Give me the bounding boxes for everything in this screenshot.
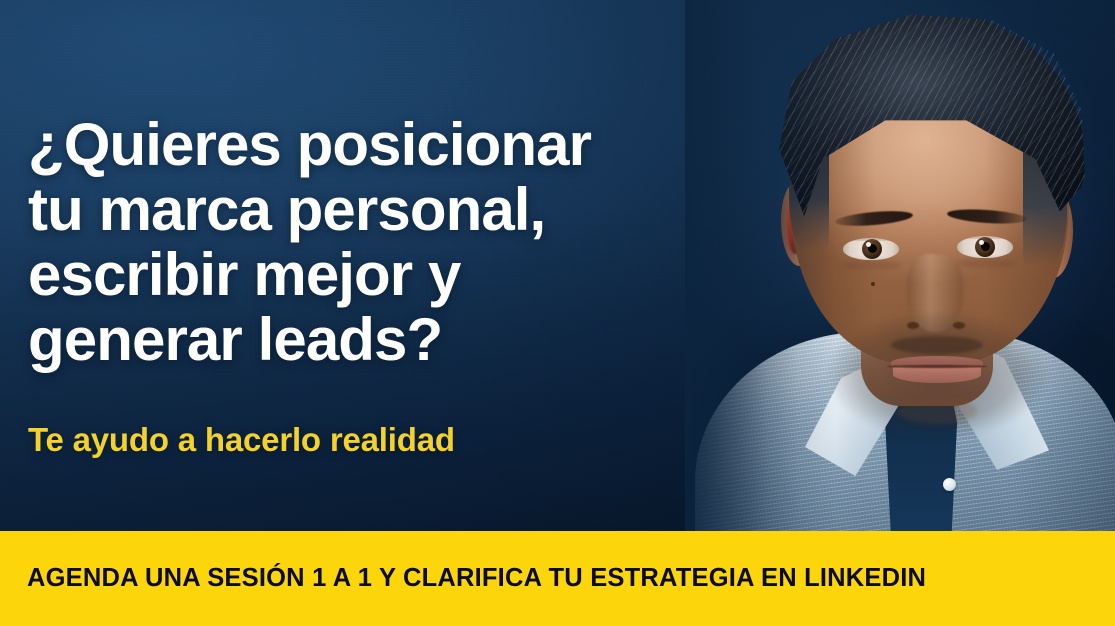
headline-line-4: generar leads? bbox=[28, 307, 788, 372]
portrait-eye-right bbox=[957, 236, 1013, 258]
eye-glint-right bbox=[979, 240, 984, 245]
cta-banner-text: AGENDA UNA SESIÓN 1 A 1 Y CLARIFICA TU E… bbox=[27, 564, 926, 593]
headline: ¿Quieres posicionar tu marca personal, e… bbox=[28, 112, 788, 372]
shirt-button bbox=[943, 478, 956, 491]
portrait-mustache bbox=[891, 336, 983, 354]
portrait-chin bbox=[897, 398, 977, 424]
eye-glint-left bbox=[866, 242, 871, 247]
linkedin-promo-poster: ¿Quieres posicionar tu marca personal, e… bbox=[0, 0, 1115, 626]
under-eye-left bbox=[843, 260, 901, 270]
headline-line-3: escribir mejor y bbox=[28, 242, 788, 307]
headline-line-1: ¿Quieres posicionar bbox=[28, 112, 788, 177]
portrait-eye-left bbox=[843, 238, 899, 260]
eyelid-left bbox=[843, 238, 899, 241]
under-eye-right bbox=[957, 258, 1015, 268]
portrait-lower-lip bbox=[893, 366, 981, 383]
portrait-mole bbox=[871, 282, 875, 286]
headline-line-2: tu marca personal, bbox=[28, 177, 788, 242]
cta-banner[interactable]: AGENDA UNA SESIÓN 1 A 1 Y CLARIFICA TU E… bbox=[0, 531, 1115, 626]
portrait-mouth-line bbox=[887, 365, 987, 368]
subtitle: Te ayudo a hacerlo realidad bbox=[28, 421, 455, 459]
eyelid-right bbox=[957, 236, 1013, 239]
